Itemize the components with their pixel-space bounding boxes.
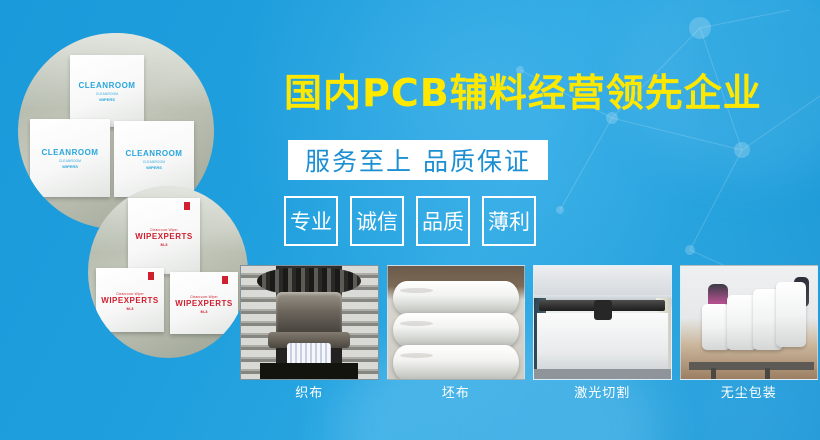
package-wipexperts-left: Cleanroom Wiper WIPEXPERTS M-3 — [96, 268, 164, 332]
subtitle-banner: 服务至上 品质保证 — [288, 140, 548, 180]
process-thumbnail-list — [240, 265, 818, 380]
promo-banner: CLEANROOM CLEANROOM WIPERS CLEANROOM CLE… — [0, 0, 820, 440]
process-photo-cleanroom-packing — [680, 265, 819, 380]
caption-greige-fabric: 坯布 — [387, 381, 526, 405]
feature-tag-integrity: 诚信 — [350, 196, 404, 246]
page-title: 国内PCB辅料经营领先企业 — [284, 74, 762, 112]
process-caption-list: 织布 坯布 激光切割 无尘包装 — [240, 381, 818, 405]
package-wipexperts-right: Cleanroom Wiper WIPEXPERTS M-3 — [170, 272, 238, 334]
package-cleanroom-top: CLEANROOM CLEANROOM WIPERS — [70, 55, 144, 127]
feature-tag-professional: 专业 — [284, 196, 338, 246]
feature-tag-low-margin: 薄利 — [482, 196, 536, 246]
caption-laser-cutting: 激光切割 — [533, 381, 672, 405]
caption-weaving: 织布 — [240, 381, 379, 405]
product-photo-wipexperts: Cleanroom Wiper WIPEXPERTS M-3 Cleanroom… — [88, 186, 248, 358]
subtitle-text: 服务至上 品质保证 — [305, 142, 531, 178]
feature-tag-list: 专业 诚信 品质 薄利 — [284, 196, 536, 246]
process-photo-weaving — [240, 265, 379, 380]
package-wipexperts-top: Cleanroom Wiper WIPEXPERTS M-3 — [128, 198, 200, 274]
process-photo-laser-cutting — [533, 265, 672, 380]
process-photo-greige-fabric — [387, 265, 526, 380]
caption-cleanroom-packing: 无尘包装 — [680, 381, 819, 405]
feature-tag-quality: 品质 — [416, 196, 470, 246]
